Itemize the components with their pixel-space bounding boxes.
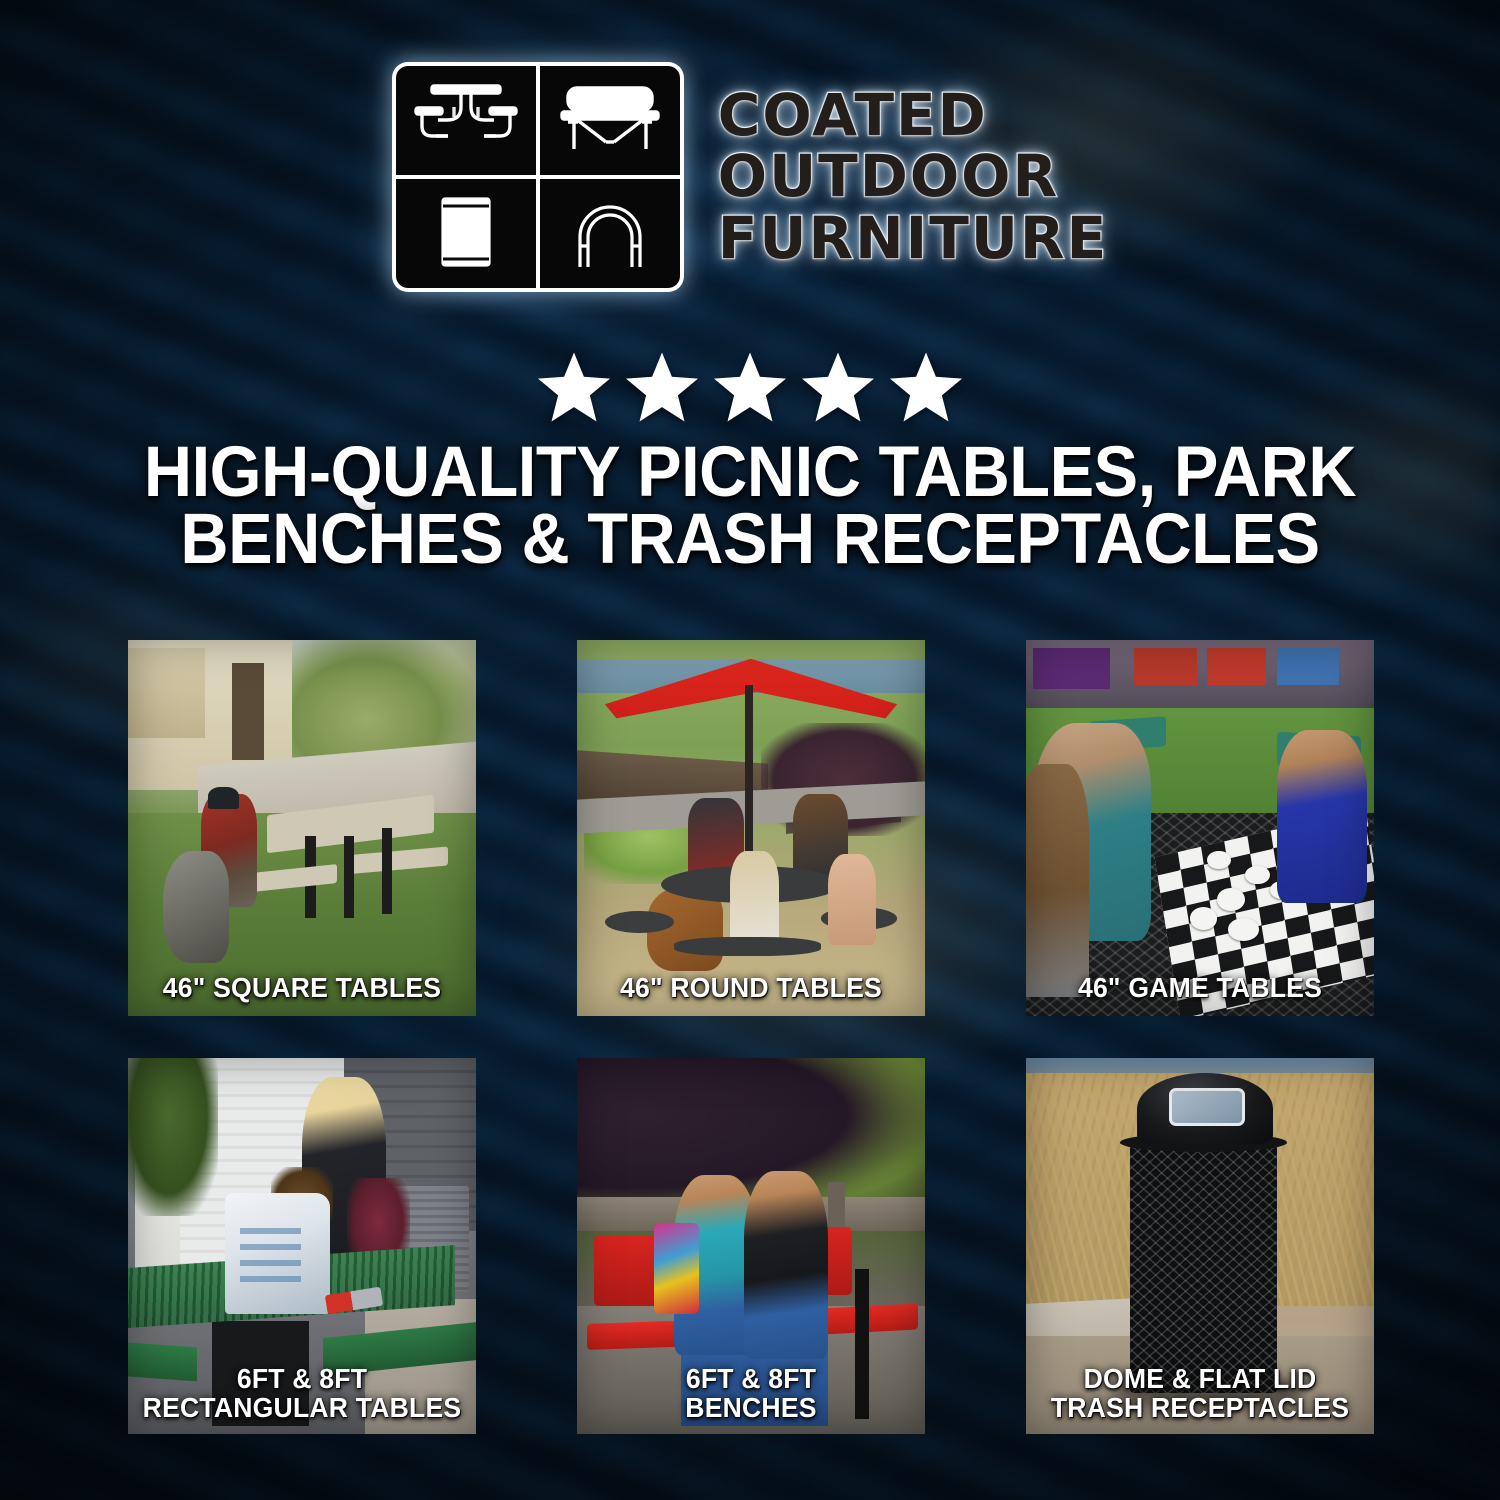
product-card-trash-receptacles[interactable]: DOME & FLAT LID TRASH RECEPTACLES [1026, 1058, 1374, 1434]
product-card-game-tables[interactable]: 46" GAME TABLES [1026, 640, 1374, 1016]
product-grid: 46" SQUARE TABLES 46" ROUND TABLES [128, 640, 1374, 1434]
product-caption: 46" SQUARE TABLES [142, 973, 461, 1002]
product-photo [1026, 640, 1374, 1016]
star-icon [538, 352, 610, 422]
logo-wordmark: COATED OUTDOOR FURNITURE [718, 86, 1108, 267]
product-caption: 46" ROUND TABLES [591, 973, 910, 1002]
caption-line-1: 46" SQUARE TABLES [142, 973, 461, 1002]
caption-line-1: 46" GAME TABLES [1040, 973, 1359, 1002]
logo-line-2: OUTDOOR [718, 147, 1108, 206]
star-rating [0, 352, 1500, 422]
headline-line-2: BENCHES & TRASH RECEPTACLES [111, 507, 1389, 574]
star-icon [714, 352, 786, 422]
star-icon [890, 352, 962, 422]
logo-line-1: COATED [718, 86, 1108, 145]
product-card-round-tables[interactable]: 46" ROUND TABLES [577, 640, 925, 1016]
star-icon [802, 352, 874, 422]
star-icon [626, 352, 698, 422]
picnic-table-icon [396, 66, 536, 175]
caption-line-1: 6FT & 8FT [591, 1364, 910, 1393]
bike-rack-icon [540, 179, 680, 288]
logo-icon-grid [392, 62, 684, 292]
caption-line-1: 46" ROUND TABLES [591, 973, 910, 1002]
product-card-benches[interactable]: 6FT & 8FT BENCHES [577, 1058, 925, 1434]
caption-line-2: BENCHES [591, 1393, 910, 1422]
brand-logo: COATED OUTDOOR FURNITURE [0, 62, 1500, 292]
caption-line-1: DOME & FLAT LID [1040, 1364, 1359, 1393]
caption-line-2: RECTANGULAR TABLES [142, 1393, 461, 1422]
product-caption: DOME & FLAT LID TRASH RECEPTACLES [1040, 1364, 1359, 1422]
park-bench-icon [540, 66, 680, 175]
logo-line-3: FURNITURE [718, 209, 1108, 268]
promo-banner: COATED OUTDOOR FURNITURE HIGH-QUALITY PI… [0, 0, 1500, 1500]
caption-line-2: TRASH RECEPTACLES [1040, 1393, 1359, 1422]
product-card-square-tables[interactable]: 46" SQUARE TABLES [128, 640, 476, 1016]
page-title: HIGH-QUALITY PICNIC TABLES, PARK BENCHES… [111, 440, 1389, 573]
product-card-rectangular-tables[interactable]: 6FT & 8FT RECTANGULAR TABLES [128, 1058, 476, 1434]
product-caption: 6FT & 8FT BENCHES [591, 1364, 910, 1422]
product-photo [577, 640, 925, 1016]
product-photo [128, 640, 476, 1016]
product-caption: 46" GAME TABLES [1040, 973, 1359, 1002]
product-caption: 6FT & 8FT RECTANGULAR TABLES [142, 1364, 461, 1422]
headline-line-1: HIGH-QUALITY PICNIC TABLES, PARK [111, 440, 1389, 507]
caption-line-1: 6FT & 8FT [142, 1364, 461, 1393]
trash-receptacle-icon [396, 179, 536, 288]
